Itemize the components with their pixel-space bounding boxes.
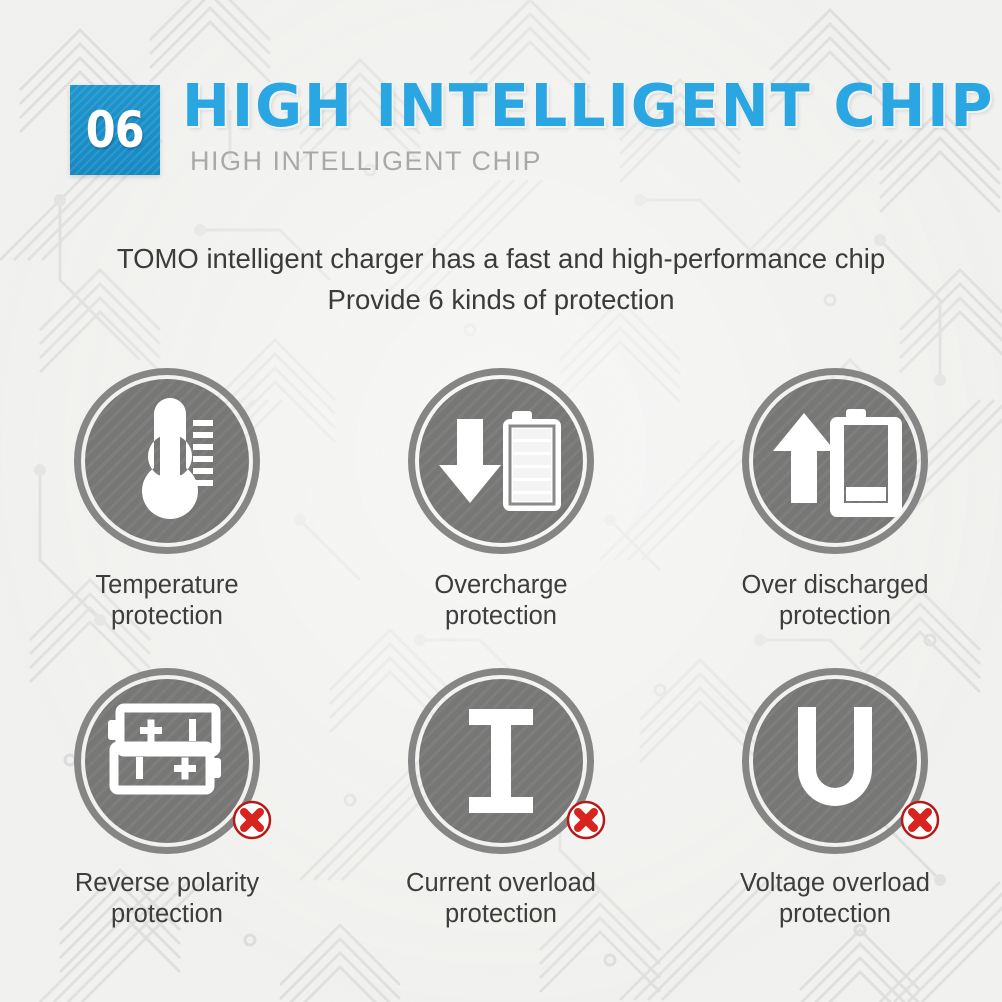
letter-u-voltage-icon [753,679,917,843]
icon-circle [742,668,928,854]
letter-i-current-icon [419,679,583,843]
icon-circle [74,368,260,554]
thermometer-icon [85,379,249,543]
header: 06 HIGH INTELLIGENT CHIP HIGH INTELLIGEN… [0,0,1002,210]
x-badge-icon [566,800,606,840]
section-number-badge: 06 [70,85,160,175]
protection-caption: Voltage overload protection [740,868,930,930]
arrow-up-empty-battery-icon [753,379,917,543]
x-badge-icon [900,800,940,840]
icon-circle [408,668,594,854]
protection-item-voltage-overload: Voltage overload protection [668,668,1002,930]
protection-grid: Temperature protection [0,368,1002,930]
reverse-polarity-batteries-icon [85,679,249,843]
section-number: 06 [86,105,144,155]
infographic-page: 06 HIGH INTELLIGENT CHIP HIGH INTELLIGEN… [0,0,1002,1002]
description-line-2: Provide 6 kinds of protection [0,279,1002,320]
icon-circle [408,368,594,554]
protection-caption: Temperature protection [95,570,238,632]
protection-caption: Reverse polarity protection [75,868,259,930]
page-title: HIGH INTELLIGENT CHIP [182,76,994,135]
protection-item-reverse-polarity: Reverse polarity protection [0,668,334,930]
page-subtitle: HIGH INTELLIGENT CHIP [190,148,542,175]
protection-item-overcharge: Overcharge protection [334,368,668,632]
protection-item-over-discharged: Over discharged protection [668,368,1002,632]
description-line-1: TOMO intelligent charger has a fast and … [0,238,1002,279]
protection-row-1: Temperature protection [0,368,1002,632]
icon-circle [74,668,260,854]
protection-caption: Overcharge protection [434,570,567,632]
protection-row-2: Reverse polarity protection [0,668,1002,930]
protection-caption: Current overload protection [406,868,596,930]
description: TOMO intelligent charger has a fast and … [0,238,1002,320]
protection-item-temperature: Temperature protection [0,368,334,632]
protection-caption: Over discharged protection [741,570,928,632]
icon-circle [742,368,928,554]
protection-item-current-overload: Current overload protection [334,668,668,930]
arrow-down-full-battery-icon [419,379,583,543]
x-badge-icon [232,800,272,840]
